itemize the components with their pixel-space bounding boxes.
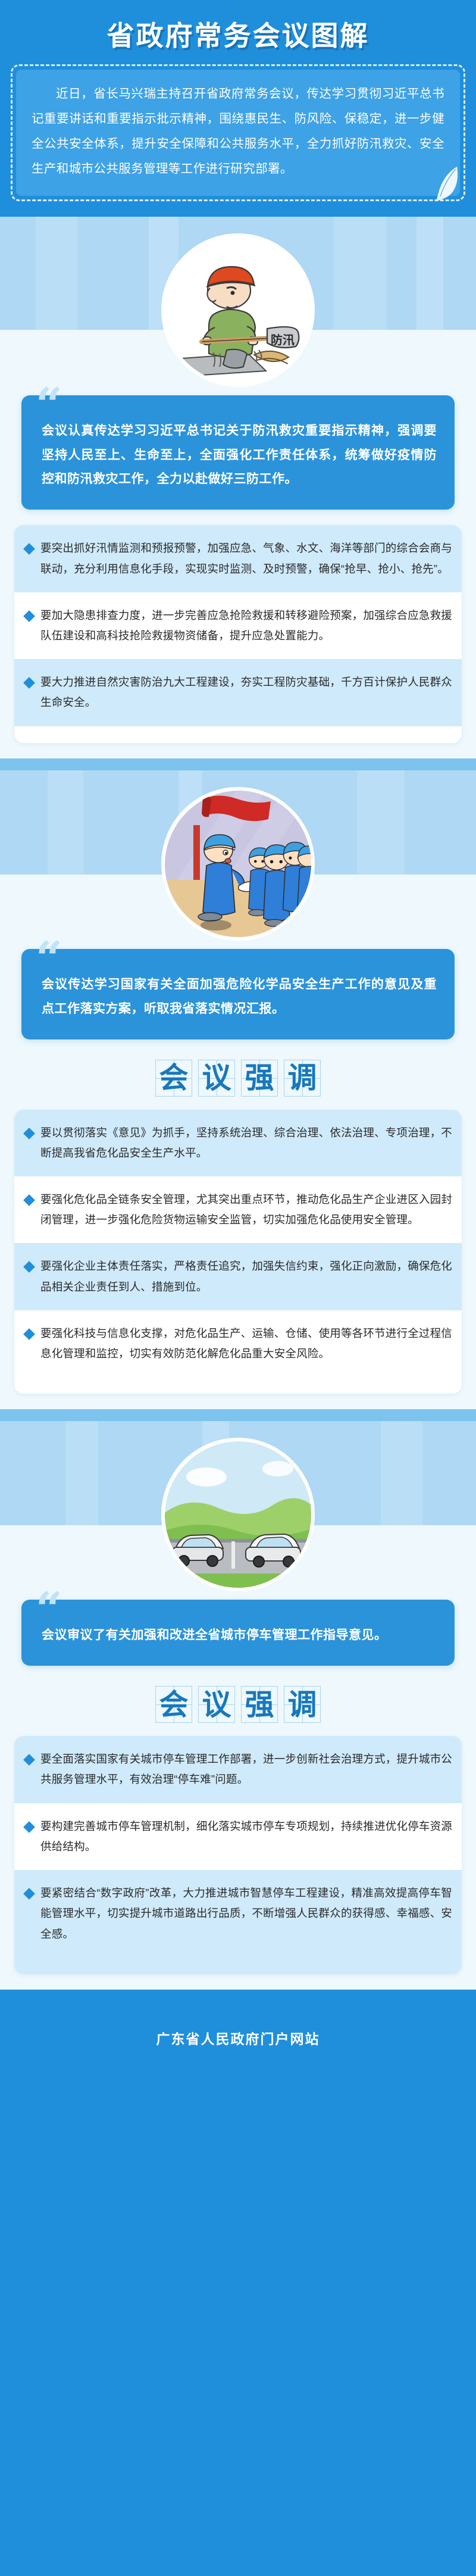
section-body: “ 会议传达学习国家有关全面加强危险化学品安全生产工作的意见及重点工作落实方案，… xyxy=(0,949,476,1410)
shovel-label: 防汛 xyxy=(271,333,295,347)
diamond-bullet-icon xyxy=(23,1328,35,1340)
section-illustration-area xyxy=(0,770,476,949)
intro-wrapper: 近日，省长马兴瑞主持召开省政府常务会议，传达学习贯彻习近平总书记重要讲话和重要指… xyxy=(0,64,476,217)
diamond-bullet-icon xyxy=(23,1262,35,1273)
section-quote-card: “ 会议传达学习国家有关全面加强危险化学品安全生产工作的意见及重点工作落实方案，… xyxy=(21,949,455,1039)
emphasis-char: 议 xyxy=(202,1690,231,1719)
section-bullet-list: 要突出抓好汛情监测和预报预警，加强应急、气象、水文、海洋等部门的综合会商与联动，… xyxy=(14,525,462,742)
list-item-text: 要大力推进自然灾害防治九大工程建设，夯实工程防灾基础，千方百计保护人民群众生命安… xyxy=(40,672,452,713)
list-item: 要突出抓好汛情监测和预报预警，加强应急、气象、水文、海洋等部门的综合会商与联动，… xyxy=(14,525,462,592)
section-quote-card: “ 会议审议了有关加强和改进全省城市停车管理工作指导意见。 xyxy=(21,1600,455,1666)
emphasis-cell: 会 xyxy=(155,1060,192,1097)
emphasis-cell: 会 xyxy=(155,1686,192,1723)
page-title: 省政府常务会议图解 xyxy=(0,11,476,64)
emphasis-cell: 调 xyxy=(284,1686,321,1723)
emphasis-char: 强 xyxy=(245,1690,274,1719)
list-bottom-padding xyxy=(14,1377,462,1394)
list-item: 要紧密结合“数字政府”改革，大力推进城市智慧停车工程建设，精准高效提高停车智能管… xyxy=(14,1870,462,1957)
section-divider-band xyxy=(0,1409,476,1421)
quote-mark-icon: “ xyxy=(36,1587,60,1633)
list-item-text: 要以贯彻落实《意见》为抓手，坚持系统治理、综合治理、依法治理、专项治理，不断提高… xyxy=(40,1123,452,1163)
list-item-text: 要突出抓好汛情监测和预报预警，加强应急、气象、水文、海洋等部门的综合会商与联动，… xyxy=(40,538,452,579)
section-bullet-list: 要以贯彻落实《意见》为抓手，坚持系统治理、综合治理、依法治理、专项治理，不断提高… xyxy=(14,1110,462,1394)
section-city-parking: “ 会议审议了有关加强和改进全省城市停车管理工作指导意见。 会 议 强 调 要全… xyxy=(0,1421,476,2007)
section-hazardous-chemicals: “ 会议传达学习国家有关全面加强危险化学品安全生产工作的意见及重点工作落实方案，… xyxy=(0,770,476,1422)
emphasis-char: 议 xyxy=(202,1063,231,1092)
emphasis-char: 强 xyxy=(245,1063,274,1092)
list-item: 要以贯彻落实《意见》为抓手，坚持系统治理、综合治理、依法治理、专项治理，不断提高… xyxy=(14,1110,462,1176)
list-item-text: 要紧密结合“数字政府”改革，大力推进城市智慧停车工程建设，精准高效提高停车智能管… xyxy=(40,1883,452,1944)
flood-worker-illustration: 防汛 xyxy=(161,233,315,387)
section-quote-text: 会议审议了有关加强和改进全省城市停车管理工作指导意见。 xyxy=(42,1628,387,1642)
emphasis-grid: 会 议 强 调 xyxy=(155,1060,321,1097)
section-illustration-area: 防汛 xyxy=(0,217,476,395)
section-body: “ 会议认真传达学习习近平总书记关于防汛救灾重要指示精神，强调要坚持人民至上、生… xyxy=(0,395,476,758)
emphasis-cell: 议 xyxy=(198,1686,235,1723)
section-illustration-area xyxy=(0,1421,476,1600)
section-bullet-list: 要全面落实国家有关城市停车管理工作部署，进一步创新社会治理方式，提升城市公共服务… xyxy=(14,1736,462,1974)
emphasis-char: 会 xyxy=(159,1690,188,1719)
list-item: 要构建完善城市停车管理机制，细化落实城市停车专项规划，持续推进优化停车资源供给结… xyxy=(14,1803,462,1870)
list-item: 要加大隐患排查力度，进一步完善应急抢险救援和转移避险预案，加强综合应急救援队伍建… xyxy=(14,592,462,659)
list-item-text: 要全面落实国家有关城市停车管理工作部署，进一步创新社会治理方式，提升城市公共服务… xyxy=(40,1749,452,1790)
infographic-page: 省政府常务会议图解 近日，省长马兴瑞主持召开省政府常务会议，传达学习贯彻习近平总… xyxy=(0,0,476,2071)
list-bottom-padding xyxy=(14,1957,462,1974)
section-emphasis-heading: 会 议 强 调 xyxy=(13,1039,463,1110)
list-item-text: 要强化科技与信息化支撑，对危化品生产、运输、仓储、使用等各环节进行全过程信息化管… xyxy=(40,1323,452,1364)
list-item-text: 要加大隐患排查力度，进一步完善应急抢险救援和转移避险预案，加强综合应急救援队伍建… xyxy=(40,605,452,646)
section-quote-text: 会议传达学习国家有关全面加强危险化学品安全生产工作的意见及重点工作落实方案，听取… xyxy=(42,978,437,1016)
emphasis-char: 调 xyxy=(287,1690,317,1719)
emphasis-cell: 强 xyxy=(241,1686,278,1723)
section-quote-card: “ 会议认真传达学习习近平总书记关于防汛救灾重要指示精神，强调要坚持人民至上、生… xyxy=(21,395,455,510)
diamond-bullet-icon xyxy=(23,1194,35,1206)
emphasis-grid: 会 议 强 调 xyxy=(155,1686,321,1723)
list-item-text: 要构建完善城市停车管理机制，细化落实城市停车专项规划，持续推进优化停车资源供给结… xyxy=(40,1816,452,1857)
page-header: 省政府常务会议图解 近日，省长马兴瑞主持召开省政府常务会议，传达学习贯彻习近平总… xyxy=(0,0,476,217)
list-item-text: 要强化企业主体责任落实，严格责任追究，加强失信约束，强化正向激励，确保危化品相关… xyxy=(40,1256,452,1297)
diamond-bullet-icon xyxy=(23,1128,35,1139)
emphasis-char: 调 xyxy=(287,1063,317,1092)
footer-spacer xyxy=(0,1990,476,2007)
emphasis-cell: 议 xyxy=(198,1060,235,1097)
list-item: 要强化科技与信息化支撑，对危化品生产、运输、仓储、使用等各环节进行全过程信息化管… xyxy=(14,1310,462,1377)
parked-cars-illustration xyxy=(161,1438,315,1591)
diamond-bullet-icon xyxy=(23,677,35,689)
safety-briefing-illustration xyxy=(161,787,315,941)
diamond-bullet-icon xyxy=(23,543,35,555)
list-item: 要强化企业主体责任落实，严格责任追究，加强失信约束，强化正向激励，确保危化品相关… xyxy=(14,1243,462,1310)
section-divider-band xyxy=(0,758,476,770)
list-item: 要全面落实国家有关城市停车管理工作部署，进一步创新社会治理方式，提升城市公共服务… xyxy=(14,1736,462,1803)
diamond-bullet-icon xyxy=(23,1821,35,1833)
diamond-bullet-icon xyxy=(23,1754,35,1766)
emphasis-cell: 强 xyxy=(241,1060,278,1097)
list-item: 要强化危化品全链条安全管理，尤其突出重点环节，推动危化品生产企业进区入园封闭管理… xyxy=(14,1176,462,1243)
section-emphasis-heading: 会 议 强 调 xyxy=(13,1666,463,1736)
list-item-text: 要强化危化品全链条安全管理，尤其突出重点环节，推动危化品生产企业进区入园封闭管理… xyxy=(40,1189,452,1230)
section-body: “ 会议审议了有关加强和改进全省城市停车管理工作指导意见。 会 议 强 调 要全… xyxy=(0,1600,476,1989)
diamond-bullet-icon xyxy=(23,1888,35,1900)
page-footer: 广东省人民政府门户网站 xyxy=(0,2007,476,2071)
diamond-bullet-icon xyxy=(23,610,35,622)
intro-paragraph: 近日，省长马兴瑞主持召开省政府常务会议，传达学习贯彻习近平总书记重要讲话和重要指… xyxy=(16,70,460,196)
emphasis-cell: 调 xyxy=(284,1060,321,1097)
section-quote-text: 会议认真传达学习习近平总书记关于防汛救灾重要指示精神，强调要坚持人民至上、生命至… xyxy=(42,424,437,486)
list-bottom-padding xyxy=(14,726,462,743)
emphasis-char: 会 xyxy=(159,1063,188,1092)
intro-dashed-frame: 近日，省长马兴瑞主持召开省政府常务会议，传达学习贯彻习近平总书记重要讲话和重要指… xyxy=(11,64,465,201)
quote-mark-icon: “ xyxy=(36,936,60,982)
section-flood-control: 防汛 “ 会议认真传达学习习近平总书记关于防汛救灾重要指示精神，强调要坚持人民至… xyxy=(0,217,476,770)
list-item: 要大力推进自然灾害防治九大工程建设，夯实工程防灾基础，千方百计保护人民群众生命安… xyxy=(14,659,462,726)
quote-mark-icon: “ xyxy=(36,382,60,429)
